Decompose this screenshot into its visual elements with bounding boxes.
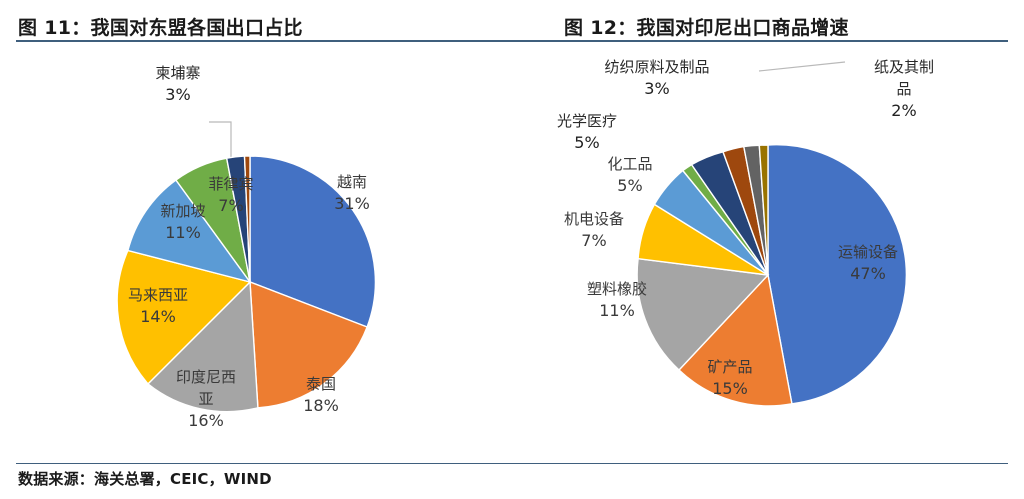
pie-label-malaysia: 马来西亚 (128, 286, 188, 304)
pie-label-paper-products-line2: 品 (896, 80, 911, 98)
figure-11-svg: 越南 31% 泰国 18% 印度尼西 亚 16% 马来西亚 14% 新加坡 11… (0, 44, 512, 459)
pie-value-indonesia: 16% (188, 411, 224, 430)
pie-label-cambodia: 柬埔寨 (155, 64, 200, 82)
pie-label-philippines: 菲律宾 (208, 175, 253, 193)
pie-label-optical-medical: 光学医疗 (557, 112, 617, 130)
pie-value-thailand: 18% (303, 396, 339, 415)
pie-label-minerals: 矿产品 (707, 358, 752, 376)
pie-label-machinery-electrical: 机电设备 (564, 210, 624, 228)
pie-value-vietnam: 31% (334, 194, 370, 213)
pie-label-transport-equipment: 运输设备 (838, 243, 898, 261)
pie-value-minerals: 15% (712, 379, 748, 398)
pie-value-transport-equipment: 47% (850, 264, 886, 283)
pie-label-indonesia-line2: 亚 (198, 390, 213, 408)
cambodia-leader-line (209, 122, 231, 157)
page-title-figure-12: 图 12：我国对印尼出口商品增速 (564, 16, 849, 40)
pie-value-paper-products: 2% (891, 101, 916, 120)
figure-12-svg: 运输设备 47% 矿产品 15% 塑料橡胶 11% 机电设备 7% 化工品 5%… (512, 44, 1024, 459)
pie-value-cambodia: 3% (165, 85, 190, 104)
pie-label-chemicals: 化工品 (607, 155, 652, 173)
pie-value-malaysia: 14% (140, 307, 176, 326)
header-divider (16, 40, 1008, 42)
pie-value-philippines: 7% (218, 196, 243, 215)
footer-divider (16, 463, 1008, 464)
pie-label-singapore: 新加坡 (160, 202, 205, 220)
pie-value-textiles: 3% (644, 79, 669, 98)
pie-label-plastics-rubber: 塑料橡胶 (587, 280, 647, 298)
pie-value-chemicals: 5% (617, 176, 642, 195)
paper-leader-line (759, 62, 845, 71)
charts-container: 越南 31% 泰国 18% 印度尼西 亚 16% 马来西亚 14% 新加坡 11… (0, 44, 1024, 459)
pie-value-machinery-electrical: 7% (581, 231, 606, 250)
data-source-note: 数据来源：海关总署，CEIC，WIND (18, 468, 272, 489)
pie-label-indonesia-line1: 印度尼西 (176, 368, 236, 386)
pie-chart-asean-export-share: 越南 31% 泰国 18% 印度尼西 亚 16% 马来西亚 14% 新加坡 11… (0, 44, 512, 459)
page-title-figure-11: 图 11：我国对东盟各国出口占比 (18, 16, 303, 40)
figure-11-title-cell: 图 11：我国对东盟各国出口占比 (0, 0, 512, 40)
slide-page: 图 11：我国对东盟各国出口占比 图 12：我国对印尼出口商品增速 (0, 0, 1024, 499)
figure-titles-row: 图 11：我国对东盟各国出口占比 图 12：我国对印尼出口商品增速 (0, 0, 1024, 40)
pie-label-vietnam: 越南 (337, 173, 367, 191)
figure-12-title-cell: 图 12：我国对印尼出口商品增速 (512, 0, 1024, 40)
pie-value-singapore: 11% (165, 223, 201, 242)
pie-value-plastics-rubber: 11% (599, 301, 635, 320)
pie-chart-indonesia-export-goods: 运输设备 47% 矿产品 15% 塑料橡胶 11% 机电设备 7% 化工品 5%… (512, 44, 1024, 459)
pie-label-thailand: 泰国 (306, 375, 336, 393)
pie-label-textiles: 纺织原料及制品 (604, 58, 709, 76)
pie-value-optical-medical: 5% (574, 133, 599, 152)
pie-label-paper-products-line1: 纸及其制 (874, 58, 934, 76)
